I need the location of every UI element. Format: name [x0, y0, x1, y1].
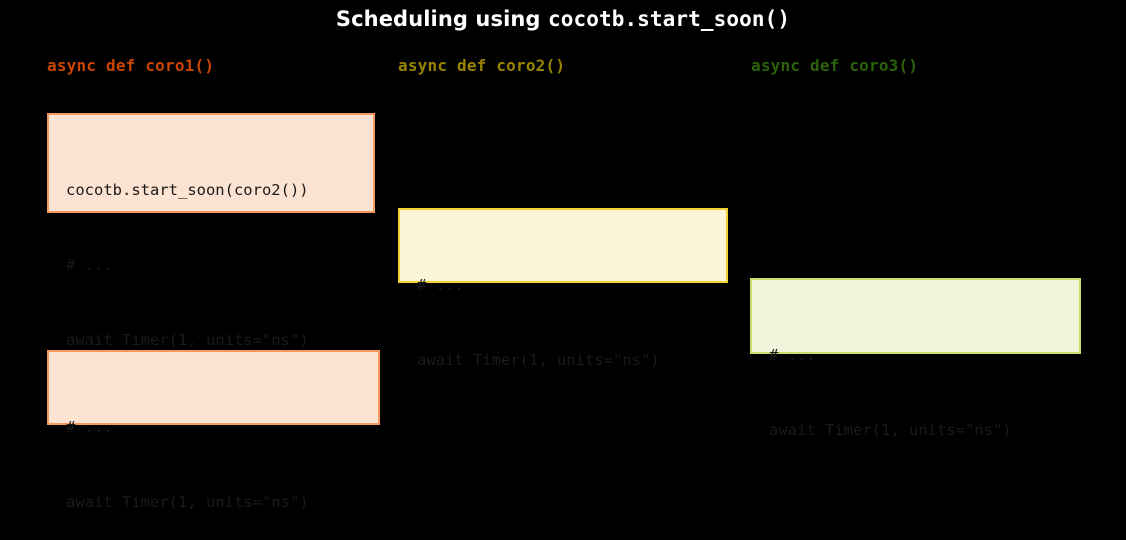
column-header-coro2: async def coro2()	[398, 56, 565, 75]
page-title-prefix: Scheduling using	[336, 7, 548, 31]
code-block-coro2-first: # ... await Timer(1, units="ns")	[398, 208, 728, 283]
code-line: cocotb.start_soon(coro2())	[66, 178, 357, 203]
code-block-coro1-first: cocotb.start_soon(coro2()) # ... await T…	[47, 113, 375, 213]
page-title: Scheduling using cocotb.start_soon()	[0, 7, 1126, 31]
code-block-coro3-first: # ... await Timer(1, units="ns")	[750, 278, 1081, 354]
page-title-code: cocotb.start_soon()	[548, 7, 790, 31]
column-header-coro1: async def coro1()	[47, 56, 214, 75]
code-block-coro1-second: # ... await Timer(1, units="ns")	[47, 350, 380, 425]
code-line: await Timer(1, units="ns")	[66, 490, 362, 515]
code-line: await Timer(1, units="ns")	[417, 348, 710, 373]
code-line: # ...	[66, 415, 362, 440]
code-line: # ...	[66, 253, 357, 278]
code-line: # ...	[417, 273, 710, 298]
code-line: # ...	[769, 343, 1063, 368]
column-header-coro3: async def coro3()	[751, 56, 918, 75]
code-line: await Timer(1, units="ns")	[769, 418, 1063, 443]
